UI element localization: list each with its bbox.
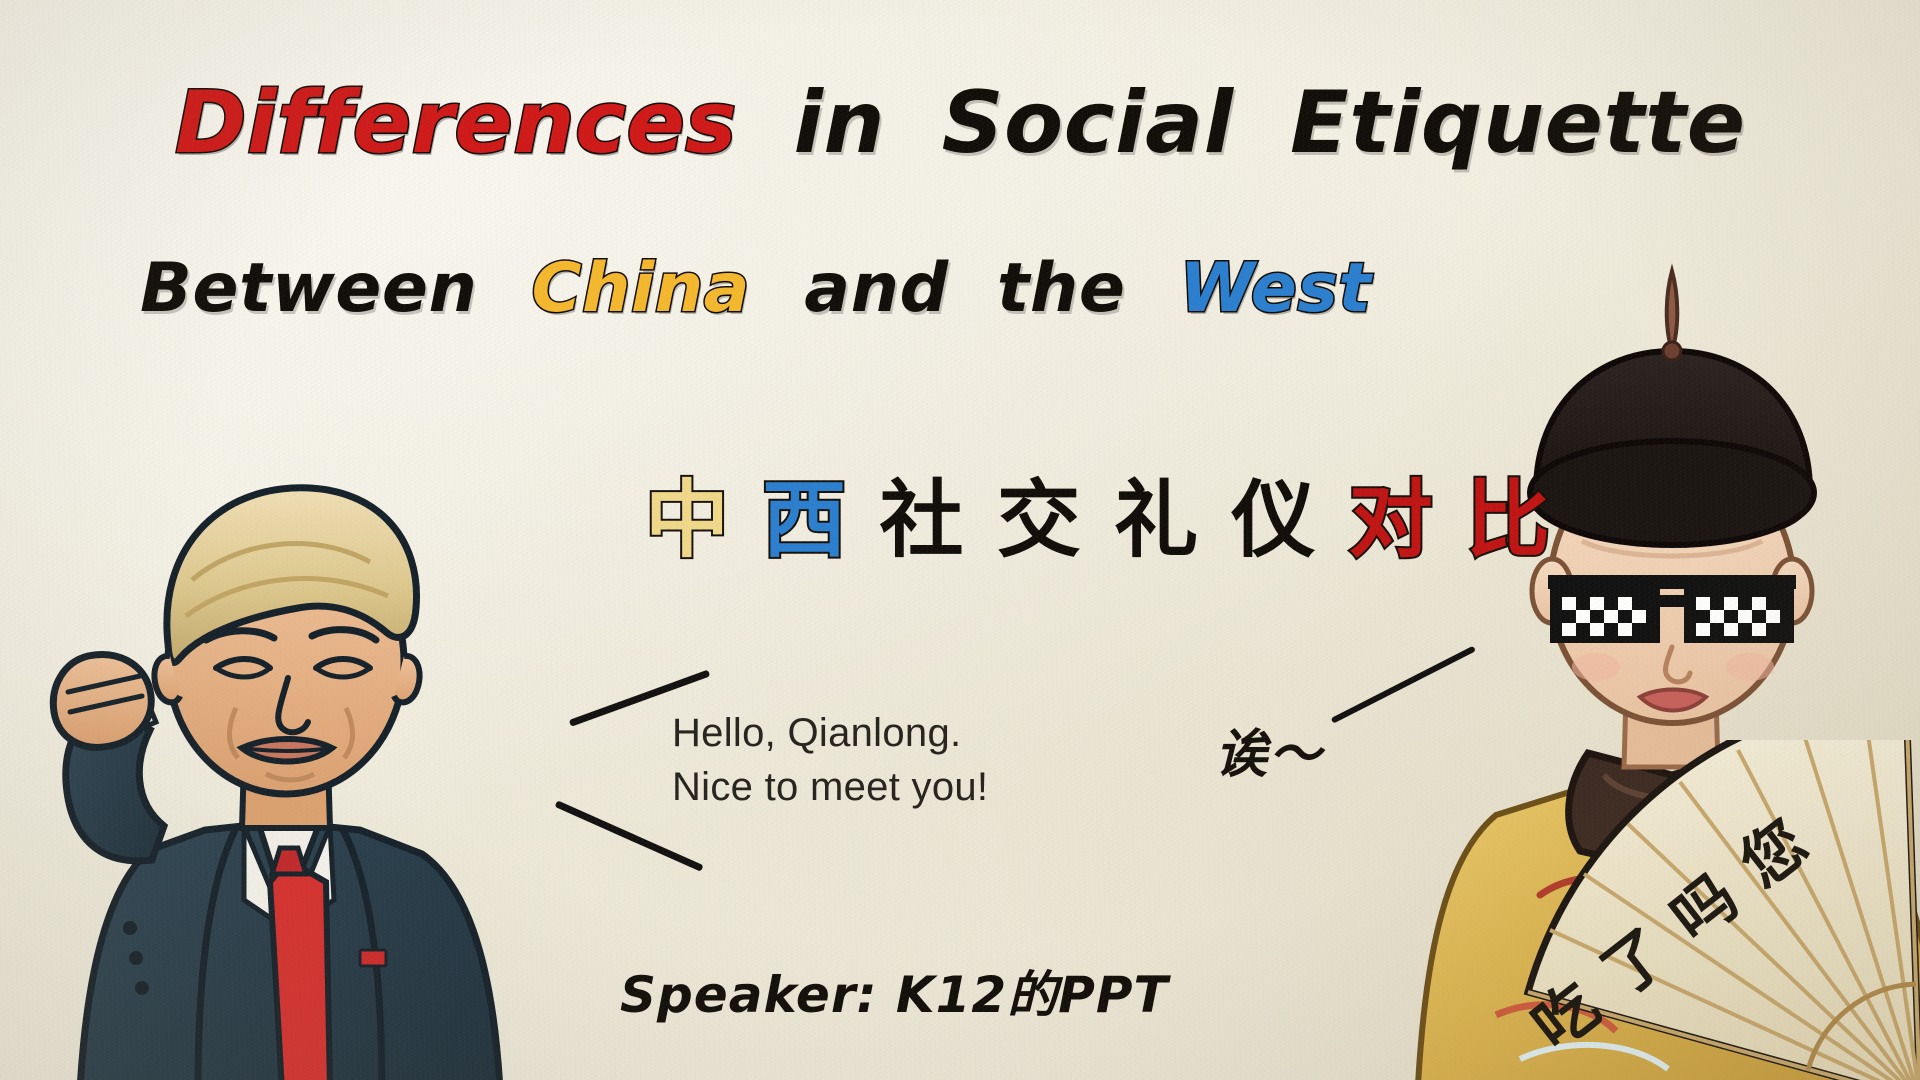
page-title: Differences in Social Etiquette [175, 80, 1746, 166]
trump-cartoon-illustration [30, 430, 590, 1080]
speech-bubble-chinese: 诶～ [1215, 712, 1323, 787]
subtitle-word-the: the [997, 255, 1126, 323]
page-subtitle: Between China and the West [140, 255, 1371, 323]
speech-line-1: Hello, Qianlong. [672, 706, 988, 760]
cn-char-xi: 西 [762, 478, 848, 562]
page-title-chinese: 中 西 社 交 礼 仪 对 比 [645, 478, 1552, 562]
subtitle-word-west: West [1180, 255, 1372, 323]
title-word-etiquette: Etiquette [1290, 80, 1746, 166]
title-word-social: Social [942, 80, 1234, 166]
speaker-credit: Speaker: K12的PPT [620, 955, 1169, 1027]
cn-char-bi: 比 [1466, 478, 1552, 562]
speech-bubble-english: Hello, Qianlong. Nice to meet you! [672, 706, 988, 814]
cn-char-li: 礼 [1114, 478, 1200, 562]
title-word-differences: Differences [175, 80, 737, 166]
folding-fan-illustration: 吃了吗您 [1480, 740, 1920, 1080]
title-word-in: in [793, 80, 885, 166]
subtitle-word-between: Between [140, 255, 477, 323]
subtitle-word-and: and [804, 255, 948, 323]
cn-char-she: 社 [880, 478, 966, 562]
cn-char-zhong: 中 [645, 478, 731, 562]
cn-char-dui: 对 [1349, 478, 1435, 562]
speech-line-2: Nice to meet you! [672, 760, 988, 814]
subtitle-word-china: China [532, 255, 750, 323]
cn-char-yi: 仪 [1231, 478, 1317, 562]
title-slide: 吃了吗您 Differences in Social Etiquette Bet… [0, 0, 1920, 1080]
cn-char-jiao: 交 [997, 478, 1083, 562]
trump-svg [30, 430, 590, 1080]
